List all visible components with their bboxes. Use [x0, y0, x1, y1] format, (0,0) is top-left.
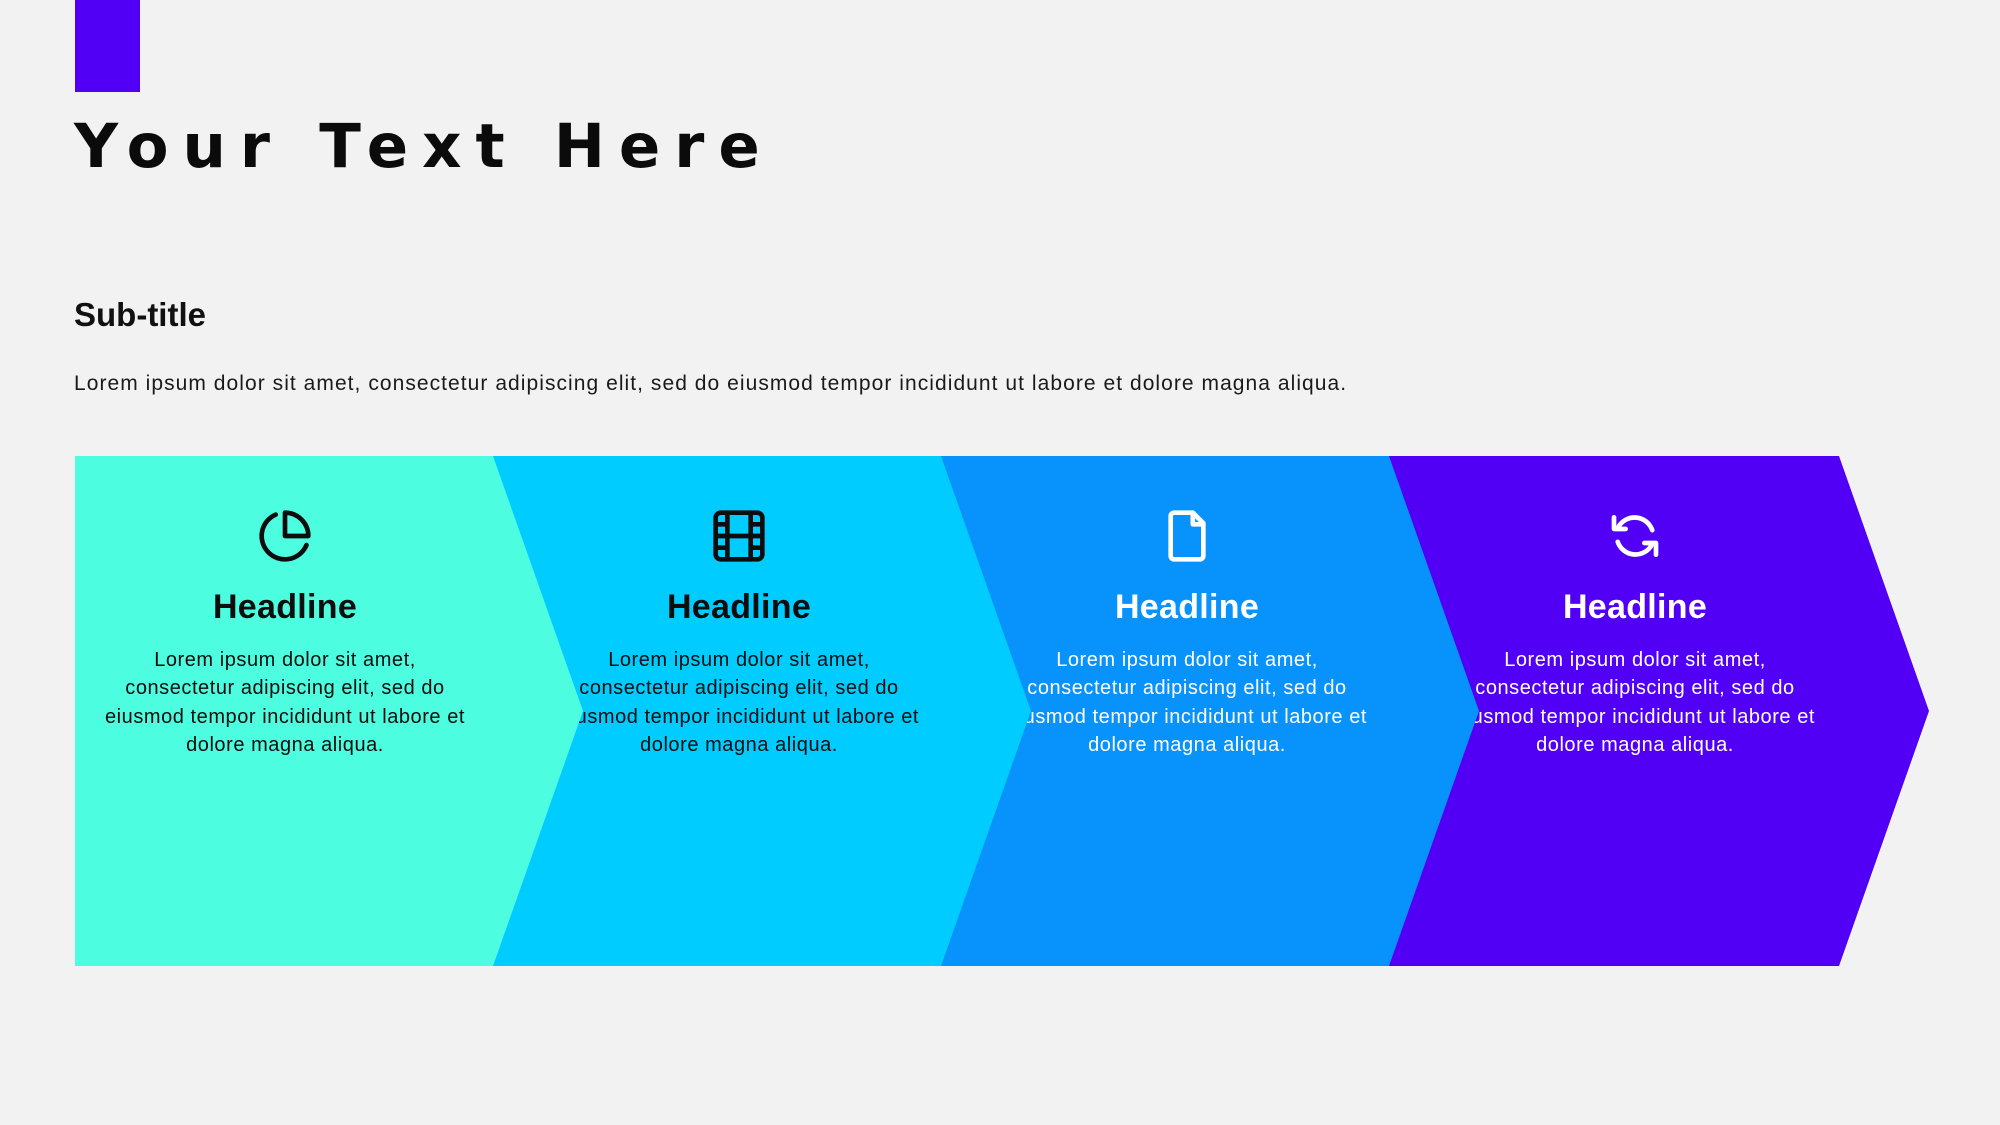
intro-paragraph: Lorem ipsum dolor sit amet, consectetur … — [74, 372, 1347, 396]
page-title: Your Text Here — [74, 116, 774, 177]
chevron-step-1-body: Lorem ipsum dolor sit amet, consectetur … — [105, 646, 465, 760]
chevron-step-4-content: Headline Lorem ipsum dolor sit amet, con… — [1425, 456, 1845, 966]
chevron-step-1-content: Headline Lorem ipsum dolor sit amet, con… — [75, 456, 495, 966]
refresh-sync-icon — [1607, 508, 1663, 564]
chevron-step-1[interactable]: Headline Lorem ipsum dolor sit amet, con… — [75, 456, 585, 966]
chevron-step-3-headline: Headline — [1115, 590, 1259, 624]
film-strip-icon — [711, 508, 767, 564]
sub-title: Sub-title — [74, 298, 206, 331]
chevron-step-3-body: Lorem ipsum dolor sit amet, consectetur … — [1007, 646, 1367, 760]
document-icon — [1159, 508, 1215, 564]
chevron-step-2-content: Headline Lorem ipsum dolor sit amet, con… — [529, 456, 949, 966]
pie-chart-icon — [257, 508, 313, 564]
chevron-step-4-headline: Headline — [1563, 590, 1707, 624]
accent-bar — [75, 0, 140, 92]
chevron-step-1-headline: Headline — [213, 590, 357, 624]
chevron-process-band: Headline Lorem ipsum dolor sit amet, con… — [0, 456, 2000, 966]
chevron-step-2-body: Lorem ipsum dolor sit amet, consectetur … — [559, 646, 919, 760]
chevron-step-3-content: Headline Lorem ipsum dolor sit amet, con… — [977, 456, 1397, 966]
chevron-step-2-headline: Headline — [667, 590, 811, 624]
chevron-step-4-body: Lorem ipsum dolor sit amet, consectetur … — [1455, 646, 1815, 760]
